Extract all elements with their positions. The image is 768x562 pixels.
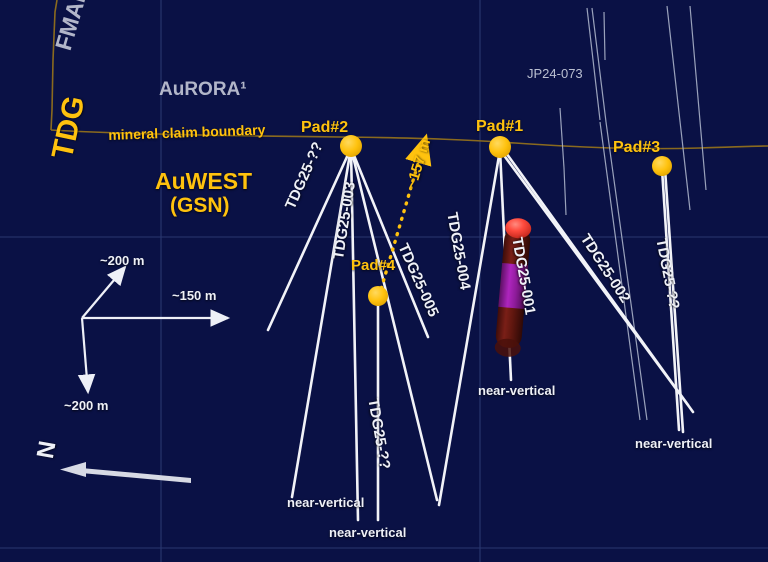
drill-traces-pad3 <box>662 169 683 432</box>
core-interval-tdg25-001 <box>494 217 532 358</box>
drill-plan-map: FMAR AuRORA¹ TDG AuWEST (GSN) mineral cl… <box>0 0 768 562</box>
map-canvas <box>0 0 768 562</box>
historic-drill-traces <box>560 6 706 420</box>
drill-traces-pad2 <box>268 148 437 520</box>
mineral-claim-boundary <box>51 0 768 149</box>
north-arrow <box>60 462 191 483</box>
scale-bar-up <box>82 267 125 318</box>
scale-bar-down <box>82 318 88 392</box>
scale-bars <box>82 267 228 392</box>
